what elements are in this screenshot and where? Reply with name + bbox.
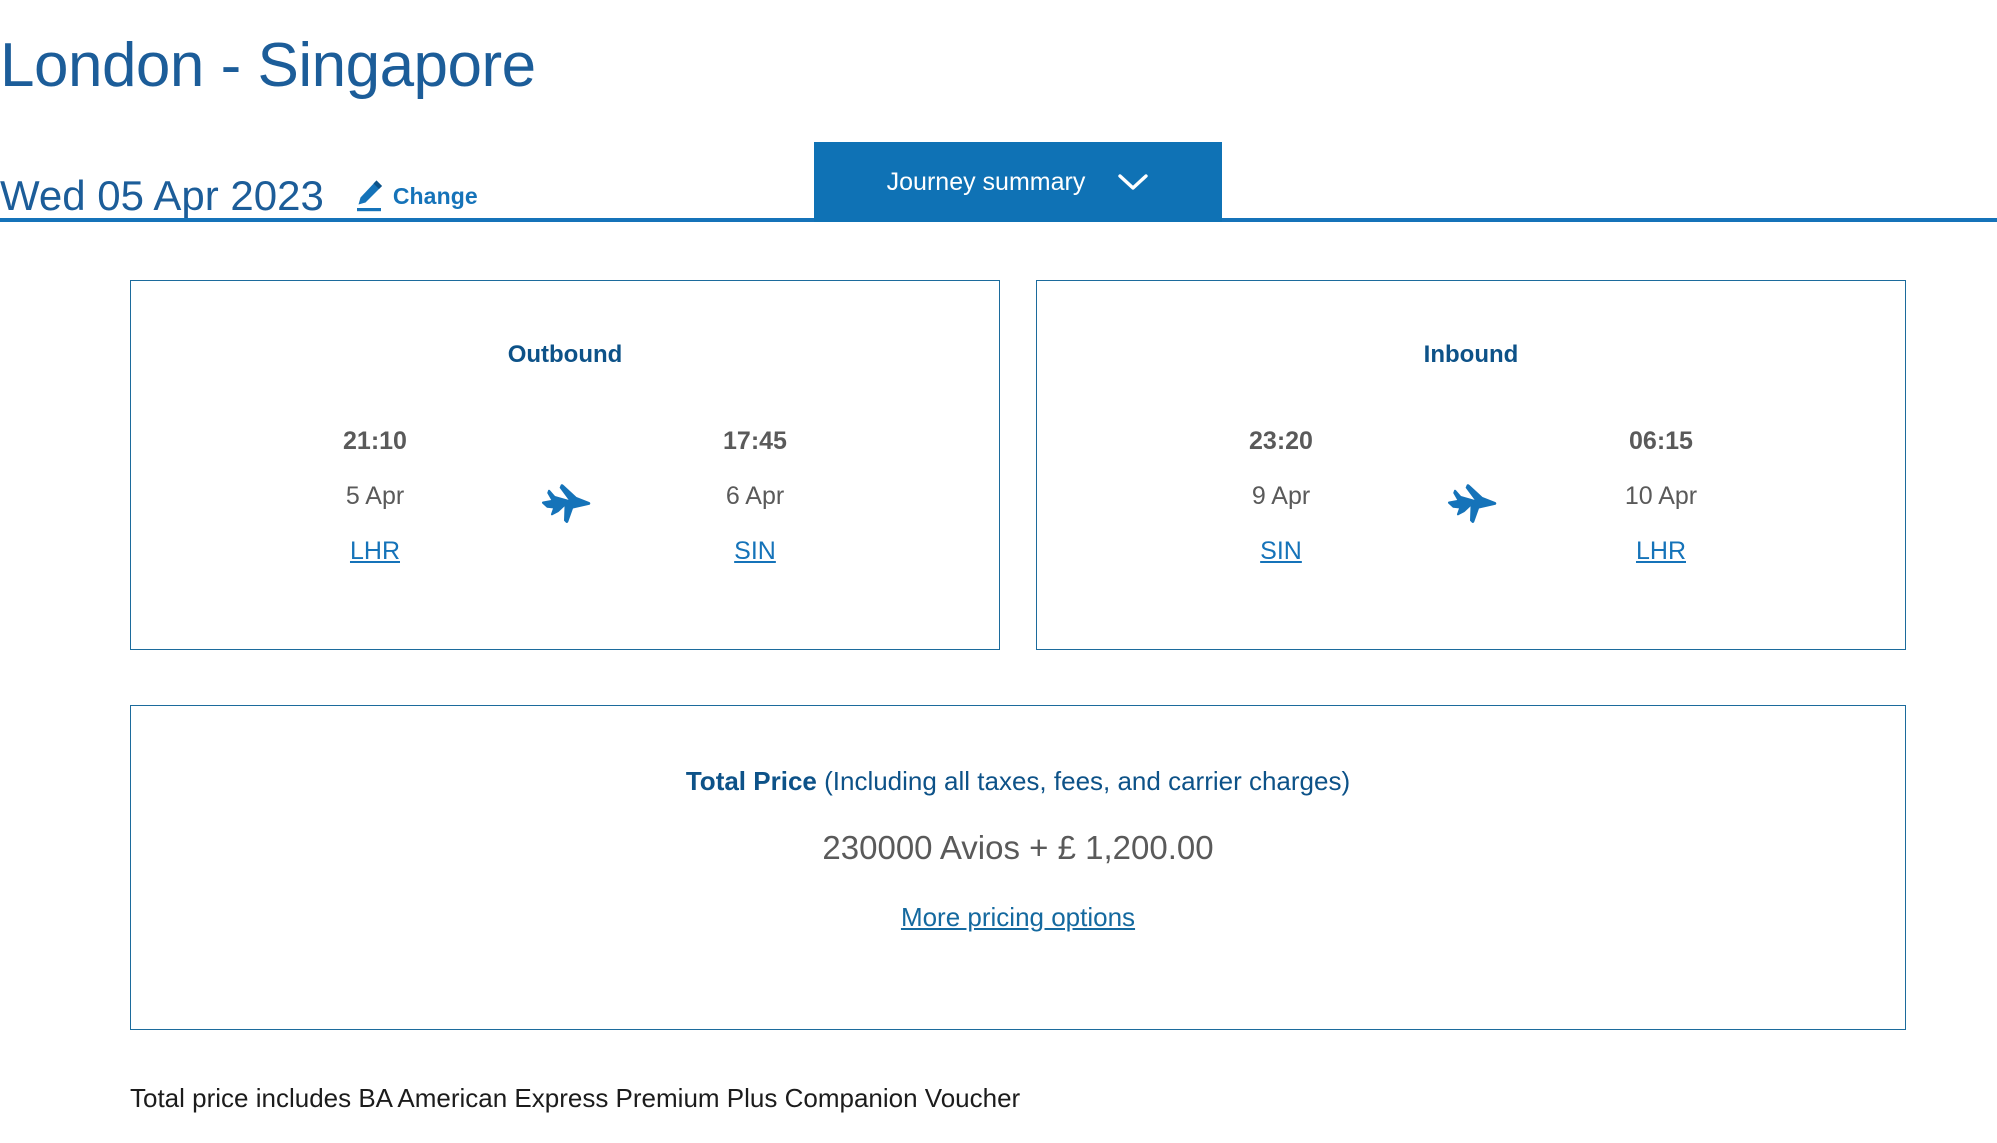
change-date-button[interactable]: Change bbox=[354, 179, 478, 213]
inbound-leg-grid: 23:20 9 Apr SIN 06:15 10 Apr LHR bbox=[1037, 429, 1905, 564]
arrival-airport-link[interactable]: SIN bbox=[734, 539, 776, 564]
arrival-airport-link[interactable]: LHR bbox=[1636, 539, 1686, 564]
total-price-card: Total Price (Including all taxes, fees, … bbox=[130, 705, 1906, 1030]
departure-airport-link[interactable]: SIN bbox=[1260, 539, 1302, 564]
arrival-time: 06:15 bbox=[1546, 429, 1776, 454]
departure-date: 9 Apr bbox=[1166, 484, 1396, 509]
outbound-departure: 21:10 5 Apr LHR bbox=[260, 429, 490, 564]
tab-journey-summary[interactable]: Journey summary bbox=[814, 142, 1222, 222]
total-price-heading: Total Price (Including all taxes, fees, … bbox=[131, 768, 1905, 794]
inbound-arrival: 06:15 10 Apr LHR bbox=[1546, 429, 1776, 564]
airplane-icon bbox=[490, 429, 640, 527]
arrival-time: 17:45 bbox=[640, 429, 870, 454]
more-pricing-options-row: More pricing options bbox=[131, 904, 1905, 930]
total-price-label: Total Price bbox=[686, 766, 817, 796]
page-title: London - Singapore bbox=[0, 35, 536, 97]
departure-airport-link[interactable]: LHR bbox=[350, 539, 400, 564]
outbound-leg-grid: 21:10 5 Apr LHR 17:45 6 Apr SIN bbox=[131, 429, 999, 564]
outbound-arrival: 17:45 6 Apr SIN bbox=[640, 429, 870, 564]
date-row: Wed 05 Apr 2023 Change bbox=[0, 175, 478, 217]
arrival-date: 10 Apr bbox=[1546, 484, 1776, 509]
tab-journey-summary-label: Journey summary bbox=[887, 170, 1086, 195]
pencil-icon bbox=[354, 179, 384, 213]
airplane-icon bbox=[1396, 429, 1546, 527]
footer-note: Total price includes BA American Express… bbox=[130, 1085, 1020, 1111]
outbound-flight-card: Outbound 21:10 5 Apr LHR 17:45 6 Apr SIN bbox=[130, 280, 1000, 650]
outbound-heading: Outbound bbox=[131, 343, 999, 367]
total-price-note: (Including all taxes, fees, and carrier … bbox=[817, 766, 1350, 796]
inbound-flight-card: Inbound 23:20 9 Apr SIN 06:15 10 Apr LHR bbox=[1036, 280, 1906, 650]
departure-time: 23:20 bbox=[1166, 429, 1396, 454]
inbound-heading: Inbound bbox=[1037, 343, 1905, 367]
departure-date: 5 Apr bbox=[260, 484, 490, 509]
total-price-amount: 230000 Avios + £ 1,200.00 bbox=[131, 831, 1905, 864]
departure-time: 21:10 bbox=[260, 429, 490, 454]
journey-date: Wed 05 Apr 2023 bbox=[0, 175, 324, 217]
more-pricing-options-link[interactable]: More pricing options bbox=[901, 904, 1135, 930]
chevron-down-icon bbox=[1117, 172, 1149, 192]
change-label: Change bbox=[393, 185, 478, 208]
inbound-departure: 23:20 9 Apr SIN bbox=[1166, 429, 1396, 564]
arrival-date: 6 Apr bbox=[640, 484, 870, 509]
